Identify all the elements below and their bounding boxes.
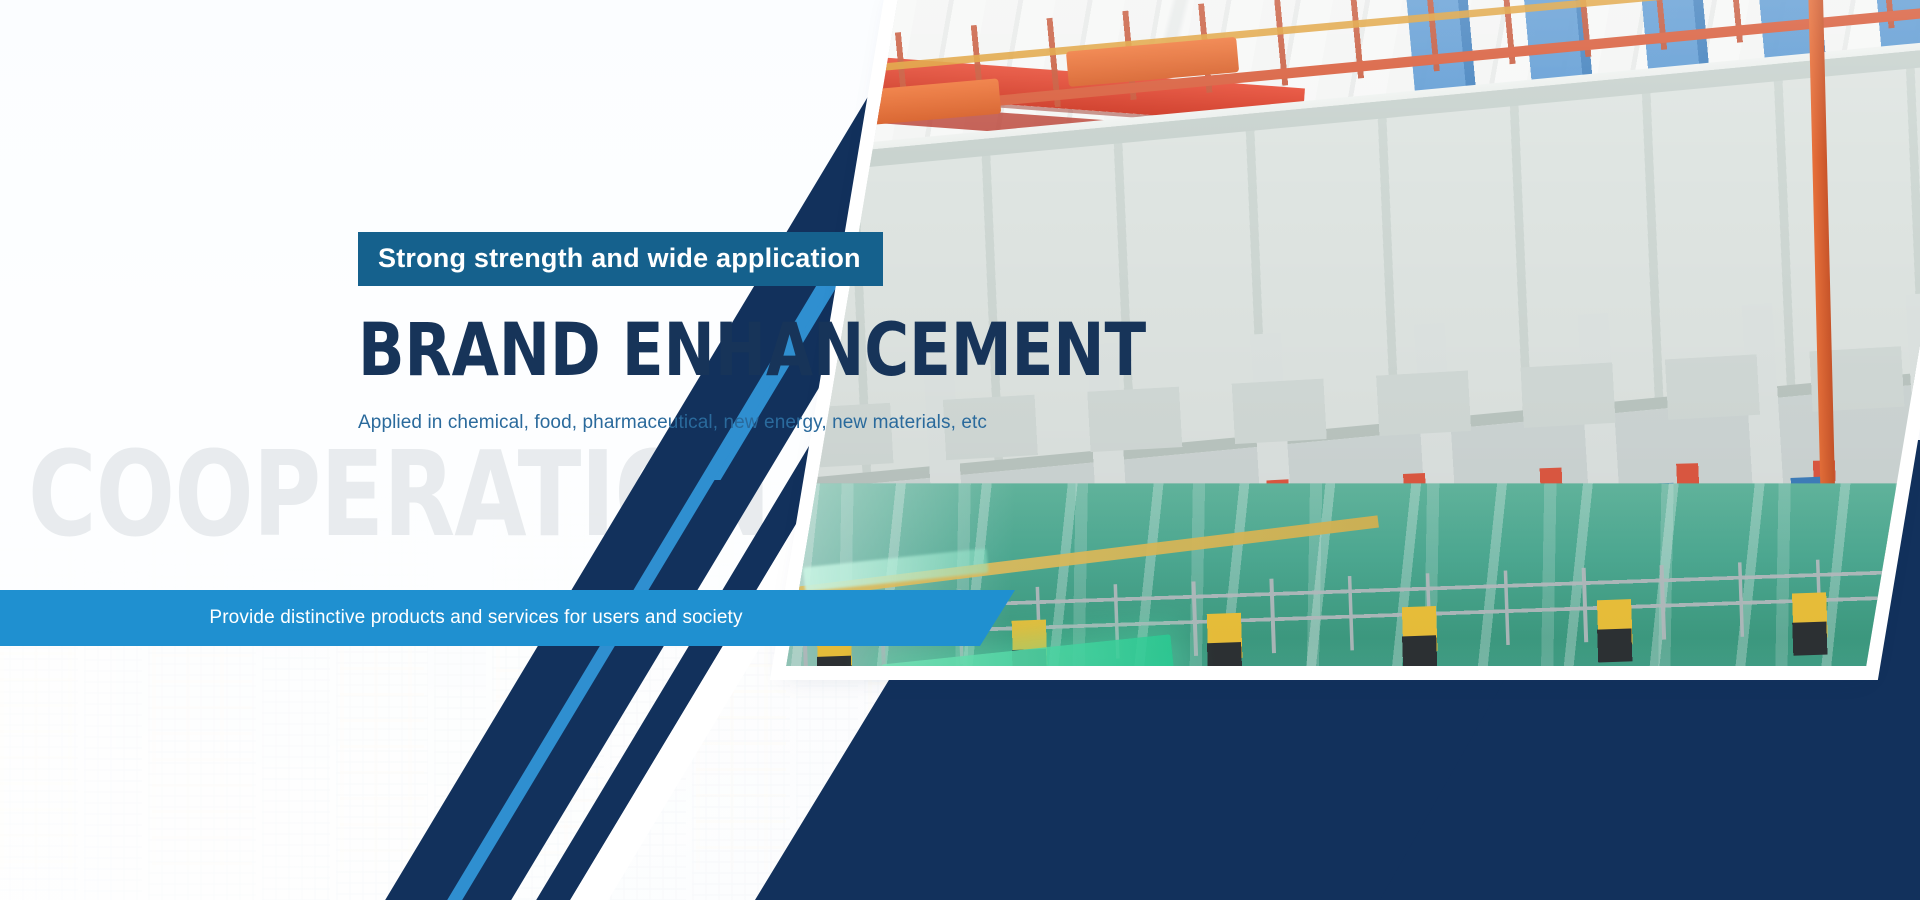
tagline-text: Provide distinctive products and service…: [0, 607, 952, 629]
hero-copy: Strong strength and wide application BRA…: [358, 232, 1118, 434]
eyebrow-badge: Strong strength and wide application: [358, 232, 883, 286]
subtitle: Applied in chemical, food, pharmaceutica…: [358, 412, 1118, 434]
page-title: BRAND ENHANCEMENT: [358, 314, 1065, 388]
hero-banner: COOPERATION: [0, 0, 1920, 900]
tagline-ribbon: Provide distinctive products and service…: [0, 590, 1015, 646]
